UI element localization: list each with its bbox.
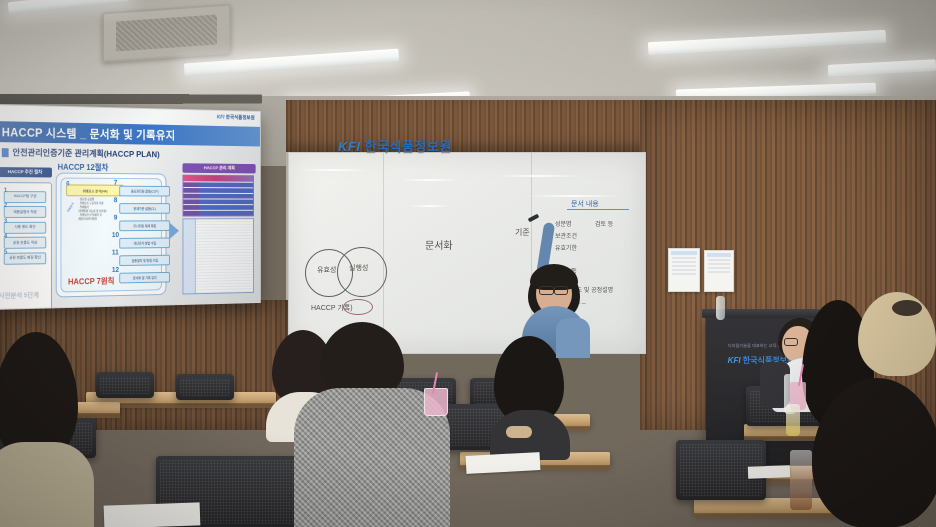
right-column-tag: HACCP 관리 계획	[182, 163, 255, 173]
poster-line	[672, 261, 696, 263]
bottle-yellow-drink	[786, 404, 800, 436]
bottle-tea-foreground	[790, 450, 812, 510]
table-cell	[183, 199, 199, 204]
drink-cup-pink	[424, 388, 448, 416]
poster-line	[672, 265, 696, 267]
ceiling-ac-unit	[102, 3, 231, 62]
water-bottle-podium	[716, 296, 725, 320]
poster-line	[708, 267, 730, 269]
square-bullet-icon	[2, 148, 9, 157]
step-label: 제품설명서 작성	[13, 209, 36, 213]
table-cell	[183, 205, 199, 210]
slide-logo-mark: KFI	[217, 115, 225, 121]
mid-outer-box: 6 위해요소 분석(HA) · 원료별·공정별 · 위해요소 도출목록 작성 ·…	[56, 173, 167, 298]
hair-tie-icon	[892, 300, 922, 316]
handout-paper-center	[466, 452, 541, 474]
step-number: 1	[4, 187, 8, 194]
whiteboard-seam-1	[383, 153, 384, 353]
slide-subtitle: 안전관리인증기준 관리계획(HACCP PLAN)	[13, 146, 160, 160]
mid-step-12-number: 12	[112, 267, 119, 274]
poster-line	[672, 257, 696, 259]
left-column-ghost-label: 사전분석 5단계	[0, 289, 39, 300]
poster-line	[708, 271, 730, 273]
whiteboard-marker	[528, 214, 540, 223]
table-row	[183, 181, 253, 187]
chair-mesh	[100, 376, 150, 394]
step-label: HACCP팀 구성	[14, 194, 37, 198]
left-step-4: 4 공정 흐름도 작성	[4, 237, 46, 249]
table-cell	[183, 188, 199, 193]
table-row	[183, 204, 253, 210]
haccp-7-principles-label: HACCP 7원칙	[68, 276, 114, 288]
slide-subtitle-row: 안전관리인증기준 관리계획(HACCP PLAN)	[2, 146, 160, 160]
mid-step-11: 검증절차 및 방법 수립	[119, 255, 170, 267]
handout-paper-foreground	[104, 502, 201, 527]
mid-step-8: 한계기준 설정(CL)	[119, 203, 170, 214]
projected-slide: KFI 한국식품정보원 HACCP 시스템 _ 문서화 및 기록유지 안전관리인…	[0, 105, 260, 309]
kfi-logo-text: 한국식품정보원	[365, 139, 452, 154]
mid-inner-box: 6 위해요소 분석(HA) · 원료별·공정별 · 위해요소 도출목록 작성 ·…	[60, 178, 161, 293]
chair-back-1	[96, 372, 154, 398]
table-cell	[199, 199, 253, 204]
table-cell	[199, 188, 253, 193]
poster-heading-bar	[707, 253, 731, 257]
chair-mesh	[180, 378, 230, 396]
glasses-case-on-desk	[506, 426, 532, 438]
poster-heading-bar	[671, 251, 697, 255]
attendee-torso	[556, 318, 590, 358]
mid-step6-bullets: · 원료별·공정별 · 위해요소 도출목록 작성 · 위해평가 (위해발생 가능…	[78, 198, 106, 222]
kfi-logo-mark: KFI	[338, 139, 360, 154]
step-number: 4	[4, 233, 8, 240]
slide-logo-text: 한국식품정보원	[226, 115, 255, 121]
left-column-tag: HACCP 추진 절차	[0, 167, 52, 177]
whiteboard-glare-1	[299, 169, 369, 171]
table-cell	[183, 211, 199, 216]
slide-mid-column: HACCP 12절차 6 위해요소 분석(HA) · 원료별·공정별 · 위해요…	[56, 162, 167, 298]
step-number: 3	[4, 217, 8, 224]
mid-step-10: 개선조치 방법 수립	[119, 238, 170, 249]
mid-step-11-number: 11	[112, 250, 119, 257]
mid-step-8-number: 8	[114, 197, 118, 204]
step-number: 2	[4, 202, 8, 209]
ac-grill-icon	[116, 14, 217, 51]
table-row	[183, 193, 253, 199]
whiteboard-glare-2	[401, 179, 461, 181]
table-cell	[183, 182, 199, 187]
haccp-plan-document	[182, 218, 253, 294]
table-cell	[183, 194, 199, 199]
left-step-3: 3 사용 용도 확인	[4, 221, 46, 233]
instructor-glasses-icon	[539, 286, 554, 295]
poster-line	[672, 269, 696, 271]
step-label: 위해요소 분석(HA)	[83, 189, 108, 193]
left-step-2: 2 제품설명서 작성	[4, 206, 46, 218]
classroom-photo: 유효성 실행성 HACCP 기록) 문서화 문서 내용 성분명 보관조건 유효기…	[0, 0, 936, 527]
step-label: 사용 용도 확인	[15, 225, 36, 229]
haccp-plan-table	[182, 175, 253, 217]
table-cell	[199, 182, 253, 187]
attendee-torso-beige	[0, 442, 94, 527]
table-cell	[199, 205, 253, 210]
slide-logo: KFI 한국식품정보원	[217, 114, 255, 121]
mid-connector-label: 위해분석	[66, 202, 75, 213]
whiteboard-brand: KFI 한국식품정보원	[338, 136, 452, 155]
slide-body: HACCP 추진 절차 1 HACCP팀 구성 2 제품설명서 작성 3 사용	[0, 161, 256, 303]
mid-step-12: 문서화 및 기록 유지	[119, 272, 170, 284]
left-step-1: 1 HACCP팀 구성	[4, 191, 46, 203]
whiteboard-glare-3	[497, 175, 581, 177]
mid-step-9: 모니터링 체계 확립	[119, 220, 170, 231]
projector-screen: KFI 한국식품정보원 HACCP 시스템 _ 문서화 및 기록유지 안전관리인…	[0, 104, 261, 310]
instructor-glasses-icon-2	[554, 286, 568, 295]
handout-paper-right	[748, 465, 790, 478]
projector-screen-housing	[0, 94, 262, 104]
whiteboard-glare-5	[525, 195, 621, 197]
poster-line	[708, 259, 730, 261]
left-step-5: 5 공정 흐름도 현장 확인	[4, 252, 46, 264]
desk-edge	[694, 513, 844, 518]
step-label: 공정 흐름도 현장 확인	[9, 255, 41, 259]
flow-arrow-icon	[169, 222, 179, 239]
center-word-munseohwa: 문서화	[425, 237, 453, 252]
wall-poster-left	[668, 248, 700, 292]
attendee-glasses-icon	[784, 338, 798, 346]
document-text-lines	[196, 219, 253, 293]
venn-caption-ring	[343, 299, 373, 315]
poster-line	[672, 273, 696, 275]
whiteboard-glare-4	[409, 205, 451, 207]
podium-logo-mark: KFI	[728, 356, 741, 365]
poster-line	[708, 263, 730, 265]
notes-right-heading-underline	[567, 209, 629, 210]
chair-back-2	[176, 374, 234, 400]
venn-left-label: 유효성	[317, 265, 336, 275]
document-side-column	[183, 219, 195, 293]
slide-left-column: HACCP 추진 절차 1 HACCP팀 구성 2 제품설명서 작성 3 사용	[0, 167, 52, 299]
notes-right-heading: 문서 내용	[571, 199, 599, 209]
mid-step-7-number: 7	[114, 180, 118, 187]
step-number: 6	[66, 181, 69, 188]
slide-right-column: HACCP 관리 계획	[182, 163, 255, 294]
venn-right-label: 실행성	[349, 263, 368, 273]
table-row	[183, 187, 253, 193]
step-label: 공정 흐름도 작성	[13, 240, 37, 244]
mid-step-10-number: 10	[112, 232, 119, 239]
table-cell	[199, 194, 253, 199]
table-row	[183, 198, 253, 204]
mid-step-9-number: 9	[114, 215, 118, 222]
table-row	[183, 210, 253, 216]
mid-step-7: 중요관리점 결정(CCP)	[119, 186, 170, 197]
step-number: 5	[4, 248, 8, 255]
wall-poster-right	[704, 250, 734, 292]
table-cell	[199, 211, 253, 216]
